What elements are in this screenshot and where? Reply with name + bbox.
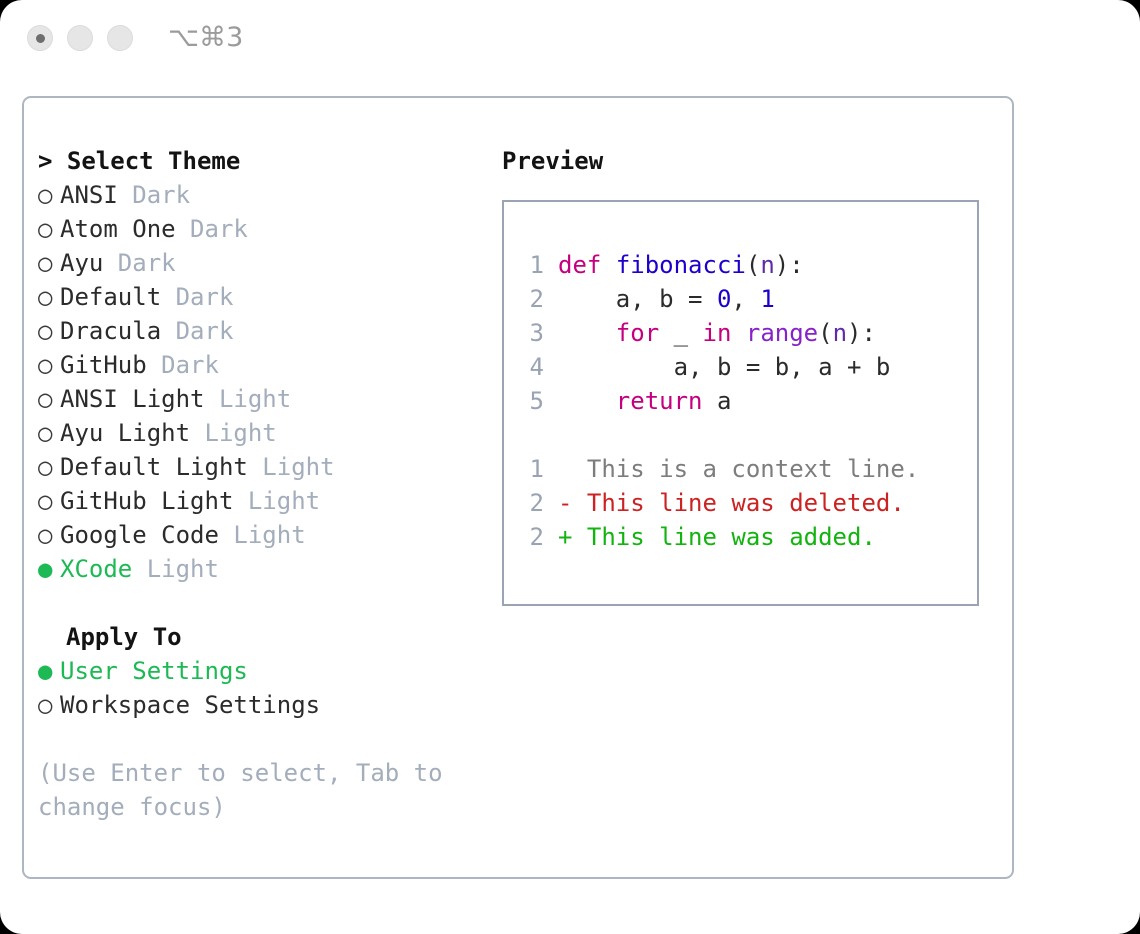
code-token: a, b = b, a + b — [558, 353, 890, 381]
theme-option-google-code[interactable]: ○Google Code Light — [38, 518, 498, 552]
theme-variant-tag: Dark — [147, 351, 219, 379]
code-token — [558, 319, 616, 347]
code-token: for — [616, 319, 659, 347]
code-token: ( — [818, 319, 832, 347]
code-sample: 1def fibonacci(n):2 a, b = 0, 13 for _ i… — [518, 248, 919, 554]
theme-option-label: Atom One — [60, 215, 176, 243]
theme-option-ansi-light[interactable]: ○ANSI Light Light — [38, 382, 498, 416]
list-spacer — [38, 586, 498, 620]
code-line: 1def fibonacci(n): — [518, 248, 919, 282]
theme-variant-tag: Light — [205, 385, 292, 413]
apply-to-heading: Apply To — [38, 620, 498, 654]
theme-option-label: ANSI — [60, 181, 118, 209]
prompt-caret: > — [38, 147, 67, 175]
radio-unselected-icon: ○ — [38, 212, 60, 246]
code-line: 5 return a — [518, 384, 919, 418]
theme-variant-tag: Light — [190, 419, 277, 447]
theme-variant-tag: Light — [248, 453, 335, 481]
code-token: ): — [775, 251, 804, 279]
diff-line-context: 1 This is a context line. — [518, 452, 919, 486]
code-token: ): — [847, 319, 876, 347]
diff-line-deleted: 2- This line was deleted. — [518, 486, 919, 520]
radio-unselected-icon: ○ — [38, 178, 60, 212]
line-number: 3 — [518, 316, 544, 350]
traffic-light-dot — [36, 34, 45, 43]
diff-text: This is a context line. — [572, 455, 919, 483]
code-diff-separator — [518, 418, 919, 452]
theme-variant-tag: Light — [219, 521, 306, 549]
theme-option-label: XCode — [60, 555, 132, 583]
code-token: fibonacci — [616, 251, 746, 279]
radio-unselected-icon: ○ — [38, 280, 60, 314]
code-token: _ — [659, 319, 702, 347]
theme-select-column: > Select Theme ○ANSI Dark○Atom One Dark○… — [38, 144, 498, 824]
theme-option-atom-one[interactable]: ○Atom One Dark — [38, 212, 498, 246]
theme-option-dracula[interactable]: ○Dracula Dark — [38, 314, 498, 348]
theme-list: ○ANSI Dark○Atom One Dark○Ayu Dark○Defaul… — [38, 178, 498, 586]
radio-unselected-icon: ○ — [38, 518, 60, 552]
theme-option-ansi[interactable]: ○ANSI Dark — [38, 178, 498, 212]
theme-option-default-light[interactable]: ○Default Light Light — [38, 450, 498, 484]
code-token: ( — [746, 251, 760, 279]
keyboard-hint: (Use Enter to select, Tab to change focu… — [38, 756, 448, 824]
apply-to-option-label: User Settings — [60, 657, 248, 685]
radio-unselected-icon: ○ — [38, 450, 60, 484]
code-token: range — [746, 319, 818, 347]
theme-option-label: GitHub — [60, 351, 147, 379]
line-number: 5 — [518, 384, 544, 418]
code-token — [558, 387, 616, 415]
theme-option-label: Default — [60, 283, 161, 311]
traffic-light-2-icon[interactable] — [67, 25, 93, 51]
apply-to-option-workspace-settings[interactable]: ○Workspace Settings — [38, 688, 498, 722]
code-token: n — [760, 251, 774, 279]
radio-unselected-icon: ○ — [38, 416, 60, 450]
theme-variant-tag: Dark — [161, 317, 233, 345]
theme-option-xcode[interactable]: ●XCode Light — [38, 552, 498, 586]
theme-option-label: ANSI Light — [60, 385, 205, 413]
theme-variant-tag: Dark — [176, 215, 248, 243]
theme-option-github[interactable]: ○GitHub Dark — [38, 348, 498, 382]
hint-spacer — [38, 722, 498, 756]
theme-option-label: Google Code — [60, 521, 219, 549]
code-line: 3 for _ in range(n): — [518, 316, 919, 350]
theme-option-label: Default Light — [60, 453, 248, 481]
radio-unselected-icon: ○ — [38, 246, 60, 280]
title-bar: ⌥⌘3 — [0, 0, 1140, 78]
main-panel: > Select Theme ○ANSI Dark○Atom One Dark○… — [22, 96, 1014, 879]
line-number: 2 — [518, 486, 544, 520]
radio-unselected-icon: ○ — [38, 382, 60, 416]
theme-option-default[interactable]: ○Default Dark — [38, 280, 498, 314]
apply-to-list: ●User Settings○Workspace Settings — [38, 654, 498, 722]
diff-line-added: 2+ This line was added. — [518, 520, 919, 554]
line-number: 4 — [518, 350, 544, 384]
diff-text: This line was added. — [572, 523, 875, 551]
theme-variant-tag: Dark — [118, 181, 190, 209]
radio-selected-icon: ● — [38, 552, 60, 586]
theme-variant-tag: Dark — [103, 249, 175, 277]
radio-unselected-icon: ○ — [38, 348, 60, 382]
apply-to-option-user-settings[interactable]: ●User Settings — [38, 654, 498, 688]
theme-option-label: Ayu Light — [60, 419, 190, 447]
theme-option-label: Dracula — [60, 317, 161, 345]
code-token: 1 — [760, 285, 774, 313]
code-token: a — [703, 387, 732, 415]
code-line: 2 a, b = 0, 1 — [518, 282, 919, 316]
preview-column: Preview 1def fibonacci(n):2 a, b = 0, 13… — [502, 144, 1002, 606]
preview-box: 1def fibonacci(n):2 a, b = 0, 13 for _ i… — [502, 200, 979, 606]
window-controls — [27, 25, 133, 51]
code-token — [601, 251, 615, 279]
code-token: a, b = — [558, 285, 717, 313]
code-token: return — [616, 387, 703, 415]
diff-marker: - — [558, 489, 572, 517]
code-token: , — [731, 285, 760, 313]
theme-option-label: GitHub Light — [60, 487, 233, 515]
line-number: 1 — [518, 248, 544, 282]
code-token: in — [703, 319, 732, 347]
theme-option-ayu[interactable]: ○Ayu Dark — [38, 246, 498, 280]
select-theme-heading: > Select Theme — [38, 144, 498, 178]
diff-text: This line was deleted. — [572, 489, 904, 517]
code-line: 4 a, b = b, a + b — [518, 350, 919, 384]
radio-unselected-icon: ○ — [38, 688, 60, 722]
theme-option-github-light[interactable]: ○GitHub Light Light — [38, 484, 498, 518]
code-token — [731, 319, 745, 347]
app-window: ⌥⌘3 > Select Theme ○ANSI Dark○Atom One D… — [0, 0, 1140, 934]
radio-unselected-icon: ○ — [38, 314, 60, 348]
diff-marker: + — [558, 523, 572, 551]
theme-variant-tag: Light — [233, 487, 320, 515]
radio-selected-icon: ● — [38, 654, 60, 688]
preview-title: Preview — [502, 144, 1002, 178]
radio-unselected-icon: ○ — [38, 484, 60, 518]
keyboard-shortcut-label: ⌥⌘3 — [168, 22, 243, 53]
code-token: n — [833, 319, 847, 347]
select-theme-heading-label: Select Theme — [67, 147, 240, 175]
apply-to-option-label: Workspace Settings — [60, 691, 320, 719]
line-number: 2 — [518, 282, 544, 316]
code-token: def — [558, 251, 601, 279]
traffic-light-3-icon[interactable] — [107, 25, 133, 51]
code-token: 0 — [717, 285, 731, 313]
theme-option-ayu-light[interactable]: ○Ayu Light Light — [38, 416, 498, 450]
theme-variant-tag: Light — [132, 555, 219, 583]
theme-option-label: Ayu — [60, 249, 103, 277]
traffic-light-active-icon[interactable] — [27, 25, 53, 51]
theme-variant-tag: Dark — [161, 283, 233, 311]
diff-marker — [558, 455, 572, 483]
line-number: 2 — [518, 520, 544, 554]
line-number: 1 — [518, 452, 544, 486]
